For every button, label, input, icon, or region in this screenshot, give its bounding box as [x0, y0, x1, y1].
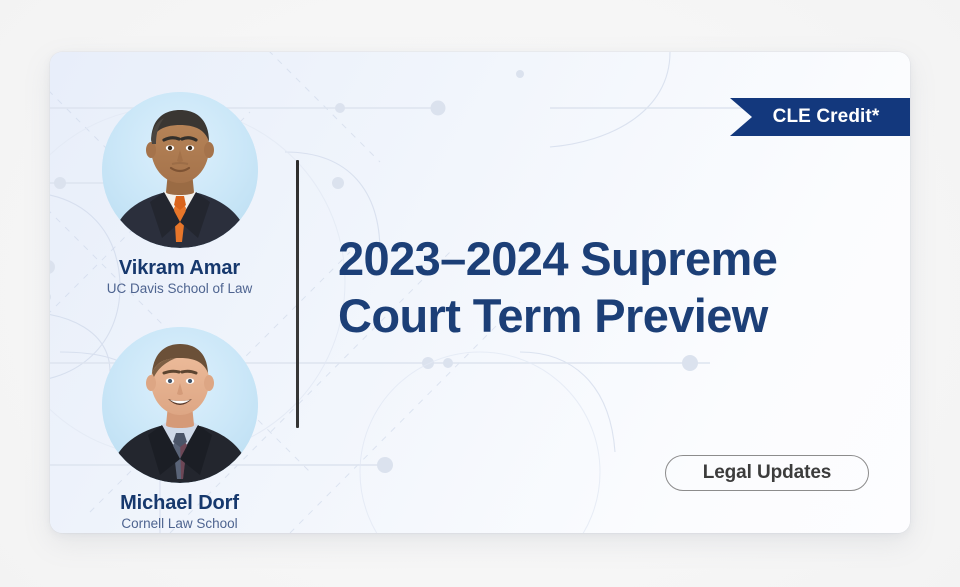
legal-updates-badge[interactable]: Legal Updates	[665, 455, 869, 491]
speaker-affiliation: UC Davis School of Law	[77, 281, 282, 297]
headshot-illustration	[102, 92, 258, 248]
speaker-card-vikram-amar: Vikram Amar UC Davis School of Law	[77, 92, 282, 297]
vertical-divider	[296, 160, 299, 428]
headshot-illustration	[102, 327, 258, 483]
page-title-line-2: Court Term Preview	[338, 287, 878, 344]
speaker-affiliation: Cornell Law School	[77, 516, 282, 532]
headshot-michael-dorf-photo	[102, 327, 258, 483]
spacer	[77, 297, 282, 327]
avatar	[102, 92, 258, 248]
cle-credit-ribbon: CLE Credit*	[730, 98, 910, 136]
avatar	[102, 327, 258, 483]
webinar-promo-card: Vikram Amar UC Davis School of Law	[50, 52, 910, 533]
page-title-line-1: 2023–2024 Supreme	[338, 230, 878, 287]
speakers-column: Vikram Amar UC Davis School of Law	[77, 92, 282, 532]
speaker-card-michael-dorf: Michael Dorf Cornell Law School	[77, 327, 282, 532]
speaker-name: Vikram Amar	[77, 257, 282, 279]
cle-credit-label: CLE Credit*	[773, 106, 880, 128]
speaker-name: Michael Dorf	[77, 492, 282, 514]
legal-updates-label: Legal Updates	[703, 462, 832, 484]
page-title: 2023–2024 Supreme Court Term Preview	[338, 230, 878, 345]
headshot-vikram-amar-photo	[102, 92, 258, 248]
